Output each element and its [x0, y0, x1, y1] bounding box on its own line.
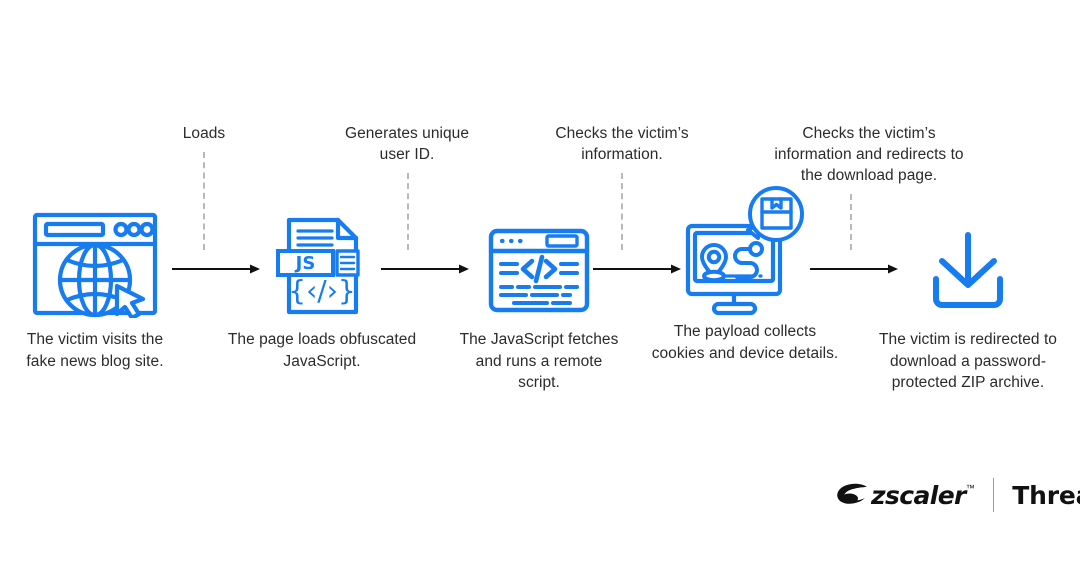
step-3-icon-wrap: [443, 200, 635, 318]
diagram-canvas: Loads Generates unique user ID. Checks t…: [0, 0, 1080, 587]
zscaler-wordmark: zscaler: [871, 481, 966, 510]
step-5-caption: The victim is redirected to download a p…: [860, 329, 1076, 394]
threatlabz-wordmark: ThreatLabz: [1012, 481, 1080, 510]
step-3: The JavaScript fetches and runs a remote…: [443, 200, 635, 394]
js-file-code-icon: JS {‹/›}: [274, 208, 370, 318]
monitor-map-package-icon: [682, 186, 808, 318]
step-2: JS {‹/›} The page loads obfuscated JavaS…: [213, 200, 431, 372]
step-4-caption: The payload collects cookies and device …: [632, 321, 858, 364]
step-4-icon-wrap: [632, 186, 858, 318]
step-5-icon-wrap: [860, 200, 1076, 318]
cursor-pointer-icon: [117, 286, 143, 318]
step-1: The victim visits the fake news blog sit…: [4, 200, 186, 372]
connector-label-3: Checks the victim’s information.: [537, 123, 707, 165]
code-braces-glyph: {‹/›}: [288, 274, 355, 307]
download-arrow-icon: [922, 223, 1014, 318]
step-2-icon-wrap: JS {‹/›}: [213, 200, 431, 318]
step-1-caption: The victim visits the fake news blog sit…: [4, 329, 186, 372]
step-4: The payload collects cookies and device …: [632, 186, 858, 364]
connector-label-4: Checks the victim’s information and redi…: [757, 123, 981, 186]
zscaler-trademark: ™: [966, 483, 975, 493]
browser-globe-cursor-icon: [29, 200, 161, 318]
code-window-icon: [484, 223, 594, 318]
step-2-caption: The page loads obfuscated JavaScript.: [213, 329, 431, 372]
connector-label-2: Generates unique user ID.: [327, 123, 487, 165]
connector-label-1: Loads: [150, 123, 258, 144]
logo-divider: [993, 478, 995, 512]
step-5: The victim is redirected to download a p…: [860, 200, 1076, 394]
step-1-icon-wrap: [4, 200, 186, 318]
js-badge-text: JS: [294, 253, 316, 274]
zscaler-swoosh-icon: [836, 483, 870, 507]
zscaler-logo: zscaler ™: [836, 481, 975, 510]
footer-branding: zscaler ™ ThreatLabz: [836, 478, 1080, 512]
step-3-caption: The JavaScript fetches and runs a remote…: [443, 329, 635, 394]
connector-dash-1: [203, 152, 205, 250]
